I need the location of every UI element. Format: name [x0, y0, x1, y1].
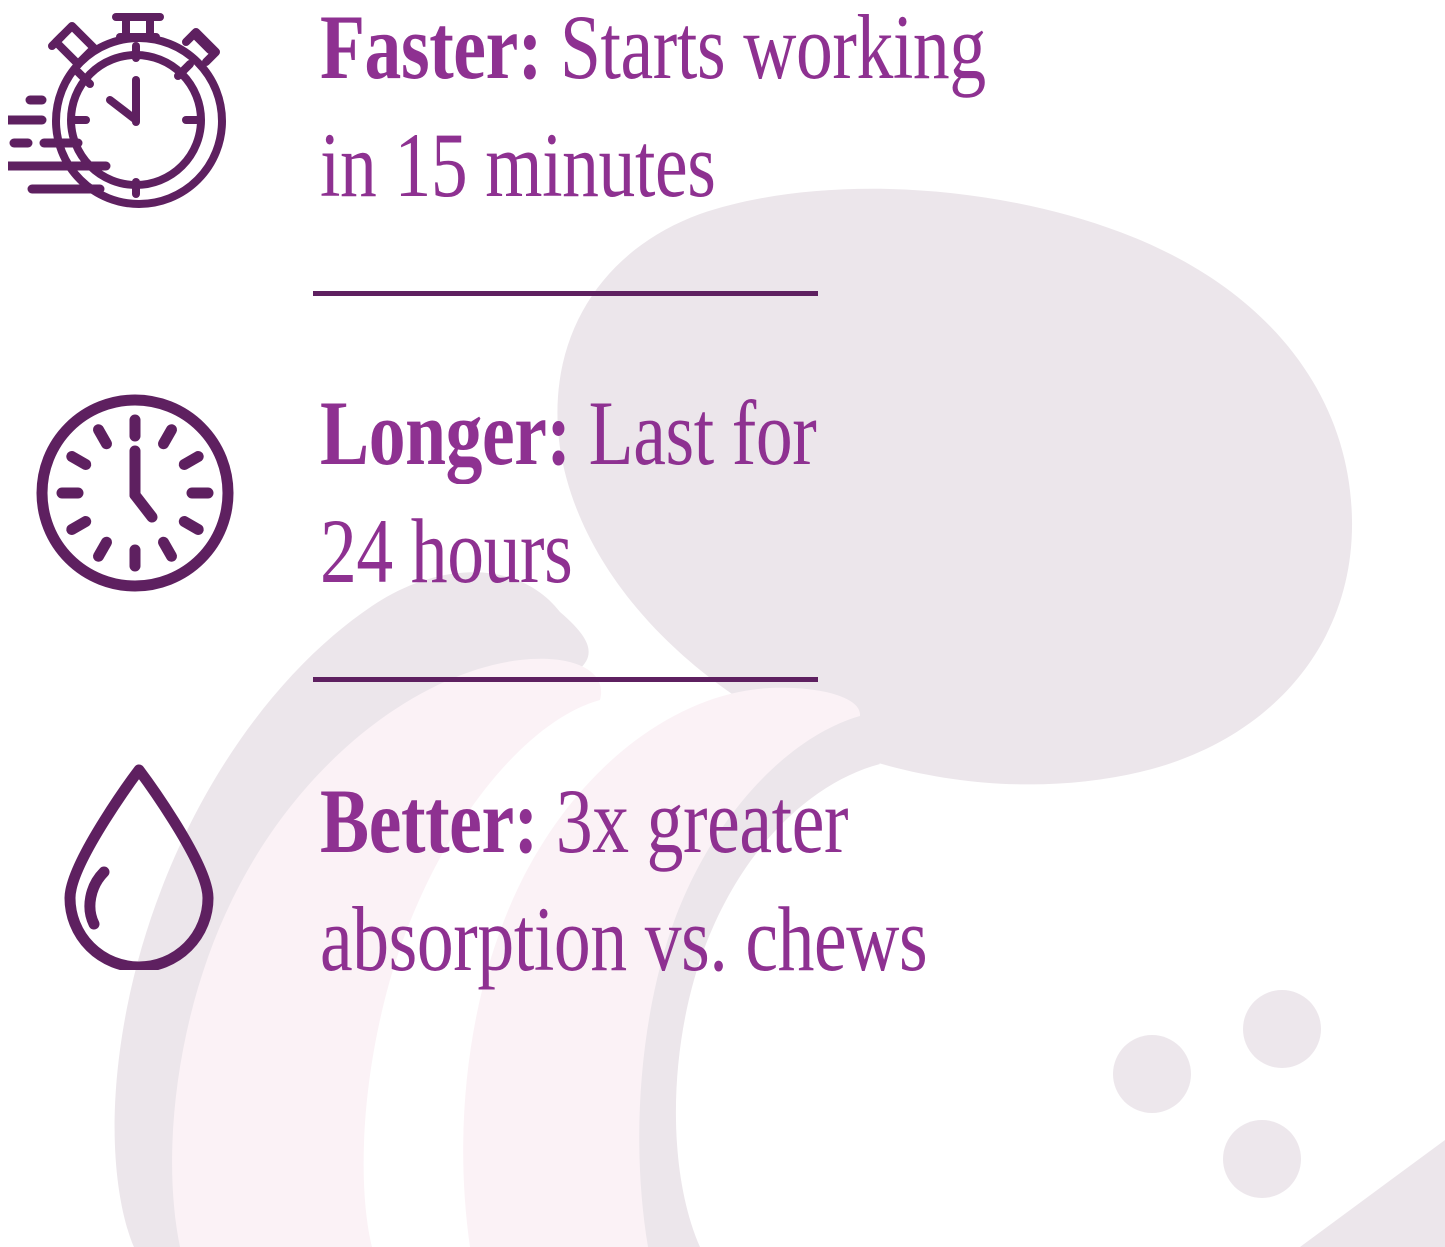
benefit-line-1-rest: Last for — [571, 382, 817, 484]
infographic-canvas: Faster: Starts working in 15 minutes — [0, 0, 1445, 1247]
benefit-line-2: in 15 minutes — [320, 106, 986, 224]
benefit-keyword: Better: — [320, 770, 538, 872]
benefit-line-1: Longer: Last for — [320, 374, 816, 492]
benefit-list: Faster: Starts working in 15 minutes — [0, 0, 1445, 1247]
benefit-line-1: Better: 3x greater — [320, 762, 927, 880]
benefit-line-1: Faster: Starts working — [320, 0, 986, 106]
benefit-line-2: absorption vs. chews — [320, 880, 927, 998]
benefit-keyword: Faster: — [320, 0, 542, 98]
benefit-keyword: Longer: — [320, 382, 571, 484]
benefit-text-faster: Faster: Starts working in 15 minutes — [320, 0, 1152, 224]
benefit-line-1-rest: Starts working — [542, 0, 986, 98]
divider-1 — [313, 291, 818, 296]
benefit-text-better: Better: 3x greater absorption vs. chews — [320, 762, 1079, 998]
clock-icon — [30, 388, 240, 598]
benefit-line-1-rest: 3x greater — [538, 770, 848, 872]
divider-2 — [313, 677, 818, 682]
droplet-icon — [42, 758, 232, 970]
benefit-text-longer: Longer: Last for 24 hours — [320, 374, 941, 610]
stopwatch-icon — [8, 8, 236, 218]
benefit-line-2: 24 hours — [320, 492, 816, 610]
